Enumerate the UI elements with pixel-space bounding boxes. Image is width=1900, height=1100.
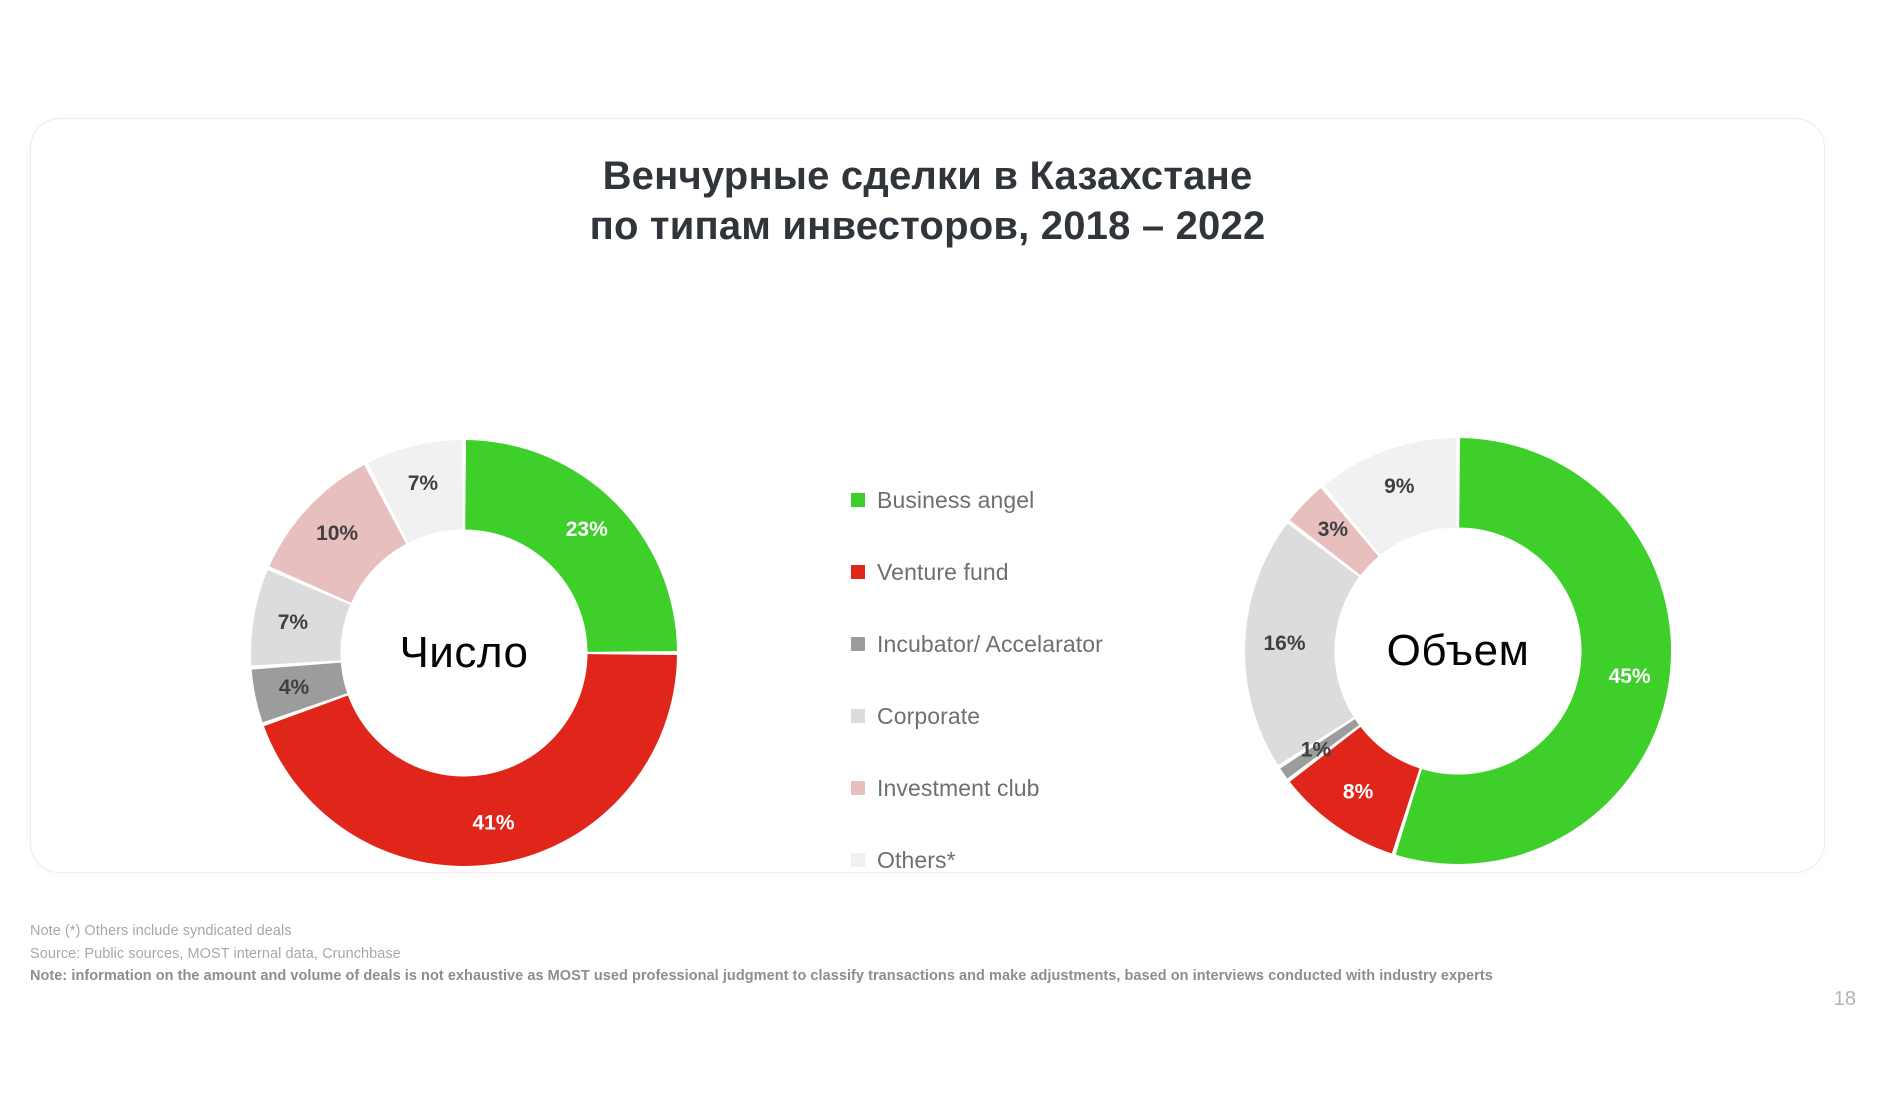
donut-slice[interactable] [465,440,677,652]
donut-slice-label: 10% [316,522,358,545]
page-number: 18 [1834,988,1856,1011]
footnote-note: Note (*) Others include syndicated deals [30,920,1730,943]
slide: Венчурные сделки в Казахстане по типам и… [0,0,1900,1100]
page-title-line-1: Венчурные сделки в Казахстане [31,151,1824,201]
donut-slice-label: 1% [1301,738,1332,761]
footnote-source: Source: Public sources, MOST internal da… [30,943,1730,966]
donut-chart-volume-svg: 45%8%1%16%3%9% [1243,436,1673,866]
chart-card: Венчурные сделки в Казахстане по типам и… [30,118,1825,873]
donut-chart-count: 23%41%4%7%10%7% Число [249,438,679,868]
legend-swatch-icon [851,637,865,651]
footnotes: Note (*) Others include syndicated deals… [30,920,1730,988]
legend-label: Incubator/ Accelarator [877,631,1103,658]
legend-item-venture-fund[interactable]: Venture fund [851,536,1181,608]
page-title-line-2: по типам инвесторов, 2018 – 2022 [31,201,1824,251]
donut-slice-label: 41% [472,812,514,835]
donut-slice-label: 9% [1384,475,1415,498]
legend-item-incubator-accelarator[interactable]: Incubator/ Accelarator [851,608,1181,680]
legend-label: Corporate [877,703,980,730]
legend-swatch-icon [851,493,865,507]
legend-swatch-icon [851,709,865,723]
donut-slice-label: 7% [278,611,309,634]
donut-slice-label: 16% [1263,632,1305,655]
legend-label: Business angel [877,487,1034,514]
legend-swatch-icon [851,565,865,579]
legend-item-business-angel[interactable]: Business angel [851,464,1181,536]
legend-label: Venture fund [877,559,1009,586]
footnote-disclaimer: Note: information on the amount and volu… [30,965,1730,988]
legend-item-investment-club[interactable]: Investment club [851,752,1181,824]
donut-slice-label: 7% [408,472,439,495]
legend-label: Investment club [877,775,1040,802]
donut-slice-label: 45% [1609,665,1651,688]
legend-item-others[interactable]: Others* [851,824,1181,896]
donut-chart-volume: 45%8%1%16%3%9% Объем [1243,436,1673,866]
donut-slice-label: 8% [1343,781,1374,804]
donut-slice-label: 4% [279,676,310,699]
legend-label: Others* [877,847,956,874]
chart-legend: Business angel Venture fund Incubator/ A… [851,464,1181,896]
legend-swatch-icon [851,781,865,795]
donut-slice-label: 23% [566,518,608,541]
legend-swatch-icon [851,853,865,867]
donut-chart-count-svg: 23%41%4%7%10%7% [249,438,679,868]
page-title: Венчурные сделки в Казахстане по типам и… [31,151,1824,252]
donut-slice-label: 3% [1318,518,1349,541]
legend-item-corporate[interactable]: Corporate [851,680,1181,752]
